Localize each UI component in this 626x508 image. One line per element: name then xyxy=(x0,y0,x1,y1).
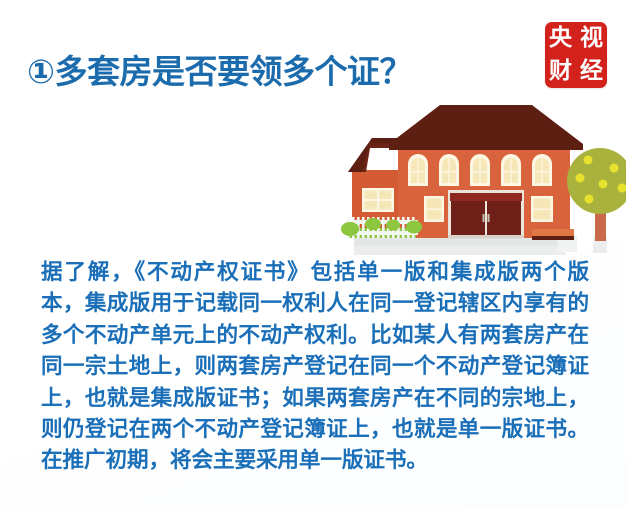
house-main-block xyxy=(389,105,583,240)
arched-window-icon xyxy=(532,154,552,186)
arched-window-icon xyxy=(501,154,521,186)
logo-glyph-1: 央 xyxy=(545,22,576,55)
cctv-finance-logo: 央 视 财 经 xyxy=(545,22,607,88)
logo-glyph-4: 经 xyxy=(576,55,607,88)
lower-window-icon xyxy=(424,196,444,222)
lower-window-icon xyxy=(531,196,553,222)
porch-step xyxy=(532,229,574,236)
arched-window-icon xyxy=(470,154,490,186)
logo-glyph-3: 财 xyxy=(545,55,576,88)
body-paragraph: 据了解，《不动产权证书》包括单一版和集成版两个版本，集成版用于记载同一权利人在同… xyxy=(41,256,589,476)
tree-canopy xyxy=(567,148,626,214)
arched-window-icon xyxy=(439,154,459,186)
garage-door-icon xyxy=(448,190,524,239)
house-illustration xyxy=(336,96,626,261)
logo-glyph-2: 视 xyxy=(576,22,607,55)
arched-window-icon xyxy=(408,154,428,186)
wing-window-icon xyxy=(362,188,394,212)
fruit-tree-icon xyxy=(567,148,626,241)
infographic-page: 央 视 财 经 ①多套房是否要领多个证？ xyxy=(0,0,626,508)
page-title: ①多套房是否要领多个证？ xyxy=(27,52,497,92)
main-roof-icon xyxy=(389,105,583,144)
